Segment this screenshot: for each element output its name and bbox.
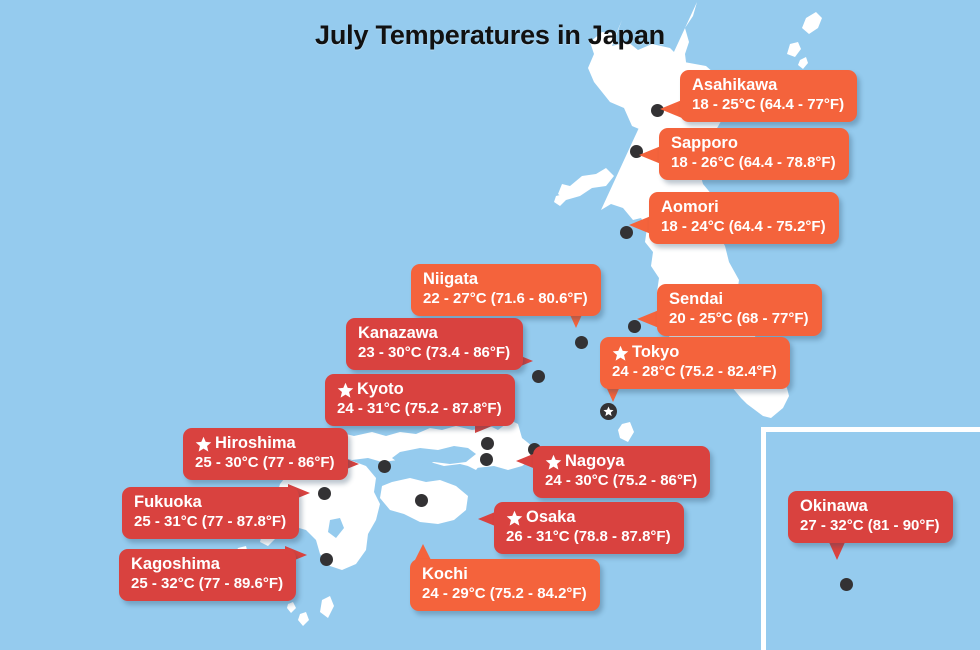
city-temp-fukuoka: 25 - 31°C (77 - 87.8°F) — [134, 513, 286, 531]
city-callout-nagoya[interactable]: Nagoya 24 - 30°C (75.2 - 86°F) — [533, 446, 710, 498]
city-callout-sapporo[interactable]: Sapporo 18 - 26°C (64.4 - 78.8°F) — [659, 128, 849, 180]
city-temp-kanazawa: 23 - 30°C (73.4 - 86°F) — [358, 344, 510, 362]
city-temp-nagoya: 24 - 30°C (75.2 - 86°F) — [545, 472, 697, 490]
page-title: July Temperatures in Japan — [0, 20, 980, 51]
city-dot-kagoshima — [320, 553, 333, 566]
southern-islets — [287, 596, 334, 626]
city-dot-tokyo-capital — [600, 403, 617, 420]
city-name-sapporo: Sapporo — [671, 134, 738, 153]
city-name-niigata: Niigata — [423, 270, 478, 289]
city-callout-hiroshima[interactable]: Hiroshima 25 - 30°C (77 - 86°F) — [183, 428, 348, 480]
island-okushiri — [554, 194, 566, 206]
capital-star-marker-icon — [603, 406, 614, 417]
city-name-kochi: Kochi — [422, 565, 468, 584]
city-temp-kochi: 24 - 29°C (75.2 - 84.2°F) — [422, 585, 587, 603]
star-icon — [506, 510, 523, 527]
city-temp-asahikawa: 18 - 25°C (64.4 - 77°F) — [692, 96, 844, 114]
callout-tail-sendai — [637, 310, 659, 328]
callout-tail-sapporo — [639, 146, 661, 164]
city-dot-kochi — [415, 494, 428, 507]
callout-tail-aomori — [629, 216, 651, 234]
map-infographic: July Temperatures in Japan Asahikawa 18 … — [0, 0, 980, 650]
izu-peninsula — [618, 422, 634, 442]
city-dot-kyoto — [481, 437, 494, 450]
city-callout-asahikawa[interactable]: Asahikawa 18 - 25°C (64.4 - 77°F) — [680, 70, 857, 122]
star-icon — [545, 454, 562, 471]
city-name-fukuoka: Fukuoka — [134, 493, 202, 512]
city-callout-fukuoka[interactable]: Fukuoka 25 - 31°C (77 - 87.8°F) — [122, 487, 299, 539]
city-callout-kagoshima[interactable]: Kagoshima 25 - 32°C (77 - 89.6°F) — [119, 549, 296, 601]
city-name-osaka: Osaka — [526, 508, 576, 527]
city-name-nagoya: Nagoya — [565, 452, 625, 471]
city-dot-okinawa — [840, 578, 853, 591]
city-dot-osaka — [480, 453, 493, 466]
city-name-hiroshima: Hiroshima — [215, 434, 296, 453]
city-callout-kanazawa[interactable]: Kanazawa 23 - 30°C (73.4 - 86°F) — [346, 318, 523, 370]
city-callout-sendai[interactable]: Sendai 20 - 25°C (68 - 77°F) — [657, 284, 822, 336]
city-temp-aomori: 18 - 24°C (64.4 - 75.2°F) — [661, 218, 826, 236]
city-name-kagoshima: Kagoshima — [131, 555, 220, 574]
city-callout-tokyo[interactable]: Tokyo 24 - 28°C (75.2 - 82.4°F) — [600, 337, 790, 389]
city-callout-aomori[interactable]: Aomori 18 - 24°C (64.4 - 75.2°F) — [649, 192, 839, 244]
city-temp-kyoto: 24 - 31°C (75.2 - 87.8°F) — [337, 400, 502, 418]
city-dot-hiroshima — [378, 460, 391, 473]
city-name-tokyo: Tokyo — [632, 343, 679, 362]
city-dot-fukuoka — [318, 487, 331, 500]
city-temp-okinawa: 27 - 32°C (81 - 90°F) — [800, 517, 940, 535]
callout-tail-asahikawa — [660, 100, 682, 118]
city-name-asahikawa: Asahikawa — [692, 76, 777, 95]
city-callout-kochi[interactable]: Kochi 24 - 29°C (75.2 - 84.2°F) — [410, 559, 600, 611]
city-callout-kyoto[interactable]: Kyoto 24 - 31°C (75.2 - 87.8°F) — [325, 374, 515, 426]
city-name-aomori: Aomori — [661, 198, 719, 217]
city-callout-niigata[interactable]: Niigata 22 - 27°C (71.6 - 80.6°F) — [411, 264, 601, 316]
callout-tail-okinawa — [828, 540, 846, 560]
city-temp-sendai: 20 - 25°C (68 - 77°F) — [669, 310, 809, 328]
city-dot-niigata — [575, 336, 588, 349]
city-name-kyoto: Kyoto — [357, 380, 404, 399]
city-name-okinawa: Okinawa — [800, 497, 868, 516]
city-temp-hiroshima: 25 - 30°C (77 - 86°F) — [195, 454, 335, 472]
city-name-kanazawa: Kanazawa — [358, 324, 438, 343]
city-temp-osaka: 26 - 31°C (78.8 - 87.8°F) — [506, 528, 671, 546]
city-dot-kanazawa — [532, 370, 545, 383]
star-icon — [195, 436, 212, 453]
star-icon — [337, 382, 354, 399]
city-temp-tokyo: 24 - 28°C (75.2 - 82.4°F) — [612, 363, 777, 381]
city-callout-okinawa[interactable]: Okinawa 27 - 32°C (81 - 90°F) — [788, 491, 953, 543]
city-name-sendai: Sendai — [669, 290, 723, 309]
star-icon — [612, 345, 629, 362]
city-temp-sapporo: 18 - 26°C (64.4 - 78.8°F) — [671, 154, 836, 172]
city-temp-kagoshima: 25 - 32°C (77 - 89.6°F) — [131, 575, 283, 593]
city-callout-osaka[interactable]: Osaka 26 - 31°C (78.8 - 87.8°F) — [494, 502, 684, 554]
city-temp-niigata: 22 - 27°C (71.6 - 80.6°F) — [423, 290, 588, 308]
hokkaido-oshima-peninsula — [558, 168, 614, 200]
